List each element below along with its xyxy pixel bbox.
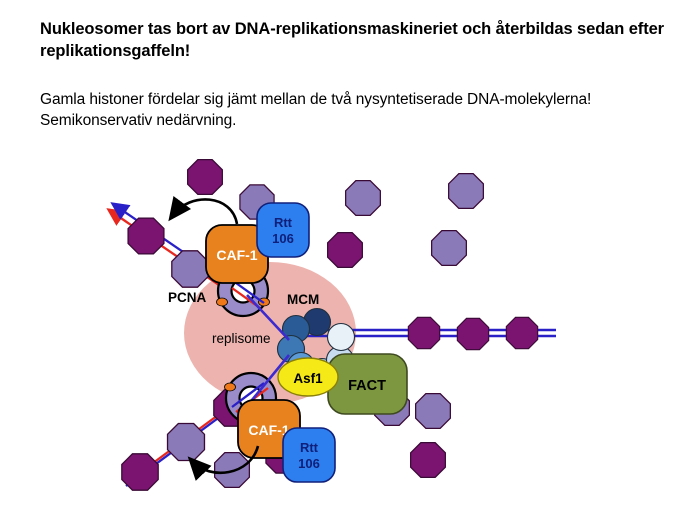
asf1-label: Asf1: [293, 371, 323, 386]
free-nucleosome-10: [416, 394, 451, 429]
nucleosome-right-2: [457, 318, 488, 349]
slide-text-block: Nukleosomer tas bort av DNA-replikations…: [40, 18, 670, 131]
pcna-label: PCNA: [168, 290, 207, 305]
caf1-label-bottom: CAF-1: [248, 422, 289, 438]
mcm-subunit-pale-2: [328, 324, 355, 351]
nucleosome-lower-light-1: [168, 424, 205, 461]
rtt106-badge-bottom[interactable]: [283, 428, 335, 482]
nucleosome-lower-dark-1: [122, 454, 158, 490]
rtt106-label-bottom-line2: 106: [298, 456, 320, 471]
fact-label: FACT: [348, 378, 386, 394]
caf1-label-top: CAF-1: [216, 247, 257, 263]
free-nucleosome-11: [411, 443, 446, 478]
page-title: Nukleosomer tas bort av DNA-replikations…: [40, 18, 670, 63]
free-nucleosome-3: [346, 181, 381, 216]
nucleosome-right-1: [408, 317, 439, 348]
free-nucleosome-5: [328, 233, 363, 268]
free-nucleosome-4: [449, 174, 484, 209]
slide-subtitle: Gamla histoner fördelar sig jämt mellan …: [40, 63, 670, 132]
nucleosome-upper-light: [172, 251, 208, 287]
rtt106-label-top-line2: 106: [272, 231, 294, 246]
assembled-nucleosome-group: [408, 317, 537, 349]
free-nucleosome-1: [188, 160, 223, 195]
deposition-arrow-top: [173, 199, 237, 224]
nucleosome-upper-dark: [128, 218, 164, 254]
nucleosome-right-3: [506, 317, 537, 348]
slide-canvas: Nukleosomer tas bort av DNA-replikations…: [0, 0, 694, 520]
rtt106-label-bottom-line1: Rtt: [300, 440, 319, 455]
rtt106-label-top-line1: Rtt: [274, 215, 293, 230]
replisome-label: replisome: [212, 331, 271, 346]
free-nucleosome-6: [432, 231, 467, 266]
diagram-figure: CAF-1 Rtt 106 CAF-1 Rtt 106 FACT Asf1 PC…: [0, 150, 694, 520]
rtt106-badge-top[interactable]: [257, 203, 309, 257]
mcm-label: MCM: [287, 292, 319, 307]
